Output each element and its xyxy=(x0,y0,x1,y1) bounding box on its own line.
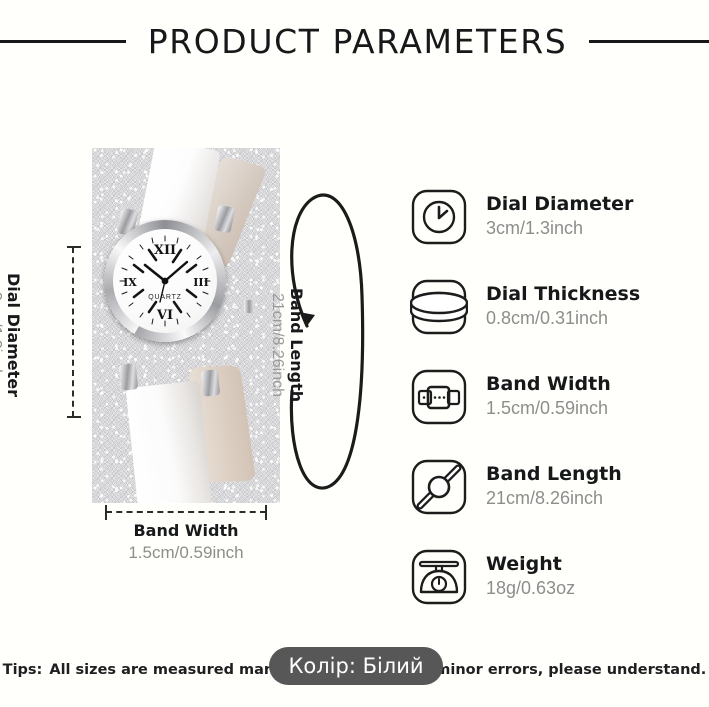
disc-thickness-icon xyxy=(410,278,468,336)
spec-row-dial-diameter: Dial Diameter 3cm/1.3inch xyxy=(410,172,700,262)
spec-text: Band Width 1.5cm/0.59inch xyxy=(486,373,700,420)
watch-dial: XII III VI IX QUARTZ xyxy=(113,229,217,333)
spec-row-band-width: Band Width 1.5cm/0.59inch xyxy=(410,352,700,442)
spec-text: Band Length 21cm/8.26inch xyxy=(486,463,700,510)
spec-list: Dial Diameter 3cm/1.3inch Dial Thickness… xyxy=(410,172,700,622)
glitter-background: XII III VI IX QUARTZ xyxy=(92,148,280,503)
kitchen-scale-icon xyxy=(410,548,468,606)
watch-crown xyxy=(244,300,254,313)
watch-strap-length-icon xyxy=(410,458,468,516)
spec-label: Dial Diameter xyxy=(486,193,700,217)
spec-row-weight: Weight 18g/0.63oz xyxy=(410,532,700,622)
dial-diameter-callout: Dial Diameter 3cm/1.3inch xyxy=(0,250,22,420)
watch-case: XII III VI IX QUARTZ xyxy=(104,220,226,342)
spec-value: 3cm/1.3inch xyxy=(486,217,700,240)
svg-text:XII: XII xyxy=(154,243,176,258)
spec-row-dial-thickness: Dial Thickness 0.8cm/0.31inch xyxy=(410,262,700,352)
color-badge-label: Колір: Білий xyxy=(288,654,423,678)
watch-lug xyxy=(201,369,220,396)
spec-text: Weight 18g/0.63oz xyxy=(486,553,700,600)
dial-brand-text: QUARTZ xyxy=(148,294,181,301)
svg-text:IX: IX xyxy=(123,276,137,289)
product-photo: XII III VI IX QUARTZ xyxy=(92,148,280,503)
spec-text: Dial Thickness 0.8cm/0.31inch xyxy=(486,283,700,330)
strap-buckle-icon xyxy=(410,368,468,426)
spec-value: 18g/0.63oz xyxy=(486,577,700,600)
spec-label: Band Length xyxy=(486,463,700,487)
spec-value: 1.5cm/0.59inch xyxy=(486,397,700,420)
watch-dial-icon xyxy=(410,188,468,246)
spec-value: 0.8cm/0.31inch xyxy=(486,307,700,330)
band-width-callout: Band Width 1.5cm/0.59inch xyxy=(86,519,286,565)
svg-text:III: III xyxy=(193,276,208,289)
spec-row-band-length: Band Length 21cm/8.26inch xyxy=(410,442,700,532)
band-width-callout-value: 1.5cm/0.59inch xyxy=(86,542,286,565)
dial-diameter-callout-label: Dial Diameter xyxy=(4,250,22,420)
title-rule-right xyxy=(589,40,709,43)
spec-label: Dial Thickness xyxy=(486,283,700,307)
title-rule-left xyxy=(0,40,126,43)
svg-text:VI: VI xyxy=(156,308,173,323)
dial-diameter-dimension-line xyxy=(72,247,74,417)
watch-lug xyxy=(119,363,138,390)
color-overlay-badge: Колір: Білий xyxy=(269,647,443,685)
page-title-row: PRODUCT PARAMETERS xyxy=(0,18,709,64)
tips-lead: Tips: xyxy=(3,662,43,678)
page-title: PRODUCT PARAMETERS xyxy=(148,22,568,61)
strap-bottom xyxy=(126,380,213,503)
band-length-loop-arrow xyxy=(282,186,368,496)
spec-label: Weight xyxy=(486,553,700,577)
band-width-callout-label: Band Width xyxy=(86,519,286,542)
band-width-dimension-line xyxy=(106,511,266,513)
spec-value: 21cm/8.26inch xyxy=(486,487,700,510)
spec-label: Band Width xyxy=(486,373,700,397)
spec-text: Dial Diameter 3cm/1.3inch xyxy=(486,193,700,240)
